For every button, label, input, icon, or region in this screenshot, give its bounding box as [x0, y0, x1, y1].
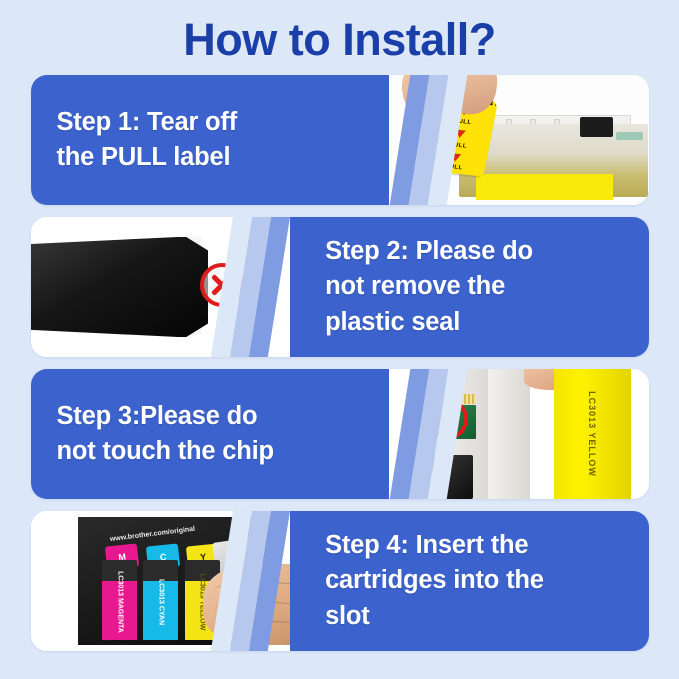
step-1-line-1: Step 1: Tear off	[57, 105, 238, 140]
step-4-line-2: cartridges into the	[325, 563, 544, 598]
cartridge-label: LC3013 CYAN	[157, 579, 164, 625]
step-3-line-1: Step 3:Please do	[57, 399, 274, 434]
page-title: How to Install?	[0, 17, 679, 62]
step-1-line-2: the PULL label	[57, 140, 238, 175]
cartridge-green-clip	[616, 132, 643, 140]
step-4-line-3: slot	[325, 599, 544, 634]
step-row-1: PULL PULL PULL Step 1: Tear off the PULL…	[31, 75, 649, 205]
step-2-text: Step 2: Please do not remove the plastic…	[290, 234, 559, 340]
cartridge-cyan: LC3013 CYAN	[143, 560, 178, 640]
step-row-3: LC3013 YELLOW Step 3:Please do not touch…	[31, 369, 649, 499]
step-3-text: Step 3:Please do not touch the chip	[31, 399, 384, 469]
step-row-2: Step 2: Please do not remove the plastic…	[31, 217, 649, 357]
steps-list: PULL PULL PULL Step 1: Tear off the PULL…	[31, 75, 649, 651]
cartridge-black-clip	[580, 117, 613, 138]
step-1-text: Step 1: Tear off the PULL label	[31, 105, 348, 175]
step-2-line-1: Step 2: Please do	[325, 234, 533, 269]
step-3-text-panel: Step 3:Please do not touch the chip	[31, 369, 389, 499]
step-2-line-3: plastic seal	[325, 305, 533, 340]
step-2-line-2: not remove the	[325, 269, 533, 304]
cartridge-magenta: LC3013 MAGENTA	[102, 560, 137, 640]
step-3-line-2: not touch the chip	[57, 434, 274, 469]
step-1-text-panel: Step 1: Tear off the PULL label	[31, 75, 389, 205]
step-2-text-panel: Step 2: Please do not remove the plastic…	[290, 217, 648, 357]
cartridge-grey-shell-2	[488, 369, 530, 499]
step-4-text-panel: Step 4: Insert the cartridges into the s…	[290, 511, 648, 651]
infographic-poster: How to Install? PULL	[0, 0, 679, 679]
yellow-cartridge: LC3013 YELLOW	[554, 369, 631, 499]
cartridge-label: LC3013 YELLOW	[587, 391, 597, 477]
cartridge-yellow-band	[476, 174, 612, 200]
step-4-text: Step 4: Insert the cartridges into the s…	[290, 528, 570, 634]
step-row-4: www.brother.com/original M C Y BK LC3013…	[31, 511, 649, 651]
cartridge-black-body	[31, 237, 209, 338]
cartridge-label: LC3013 MAGENTA	[116, 571, 123, 633]
step-4-line-1: Step 4: Insert the	[325, 528, 544, 563]
